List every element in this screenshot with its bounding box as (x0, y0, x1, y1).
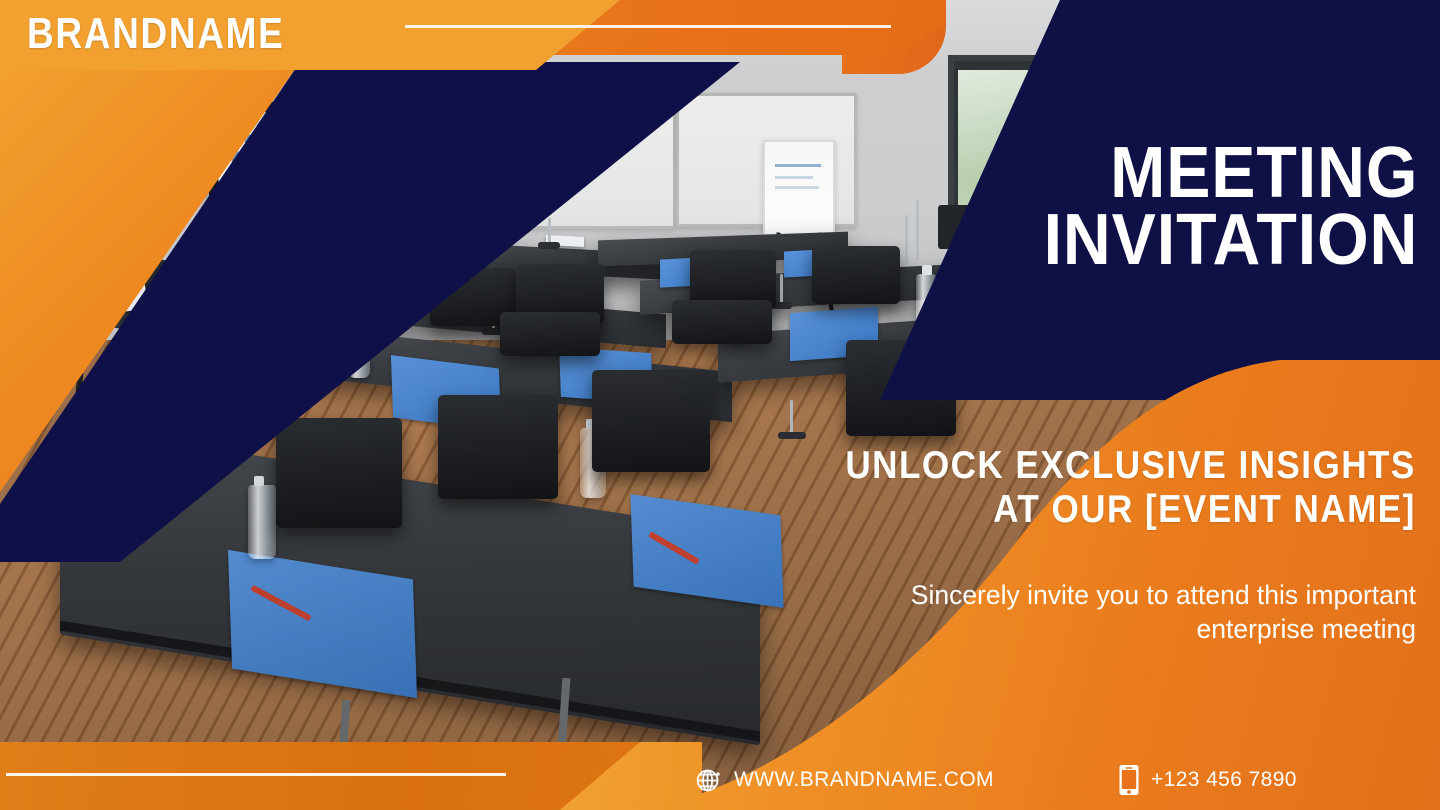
website-contact[interactable]: WWW.BRANDNAME.COM (694, 766, 994, 795)
website-text: WWW.BRANDNAME.COM (734, 768, 994, 792)
title-line-1: MEETING (1043, 140, 1418, 207)
header-divider-line (405, 25, 891, 28)
page-title: MEETING INVITATION (1011, 140, 1418, 274)
subtitle-line-1: Sincerely invite you to attend this impo… (911, 578, 1416, 612)
meeting-invitation-poster: BRANDNAME MEETING INVITATION UNLOCK EXCL… (0, 0, 1440, 810)
headline: UNLOCK EXCLUSIVE INSIGHTS AT OUR [EVENT … (782, 444, 1416, 531)
brand-name: BRANDNAME (27, 9, 284, 59)
title-line-2: INVITATION (1043, 207, 1418, 274)
headline-line-2: AT OUR [EVENT NAME] (846, 488, 1416, 532)
phone-contact[interactable]: +123 456 7890 (1118, 764, 1297, 796)
headline-line-1: UNLOCK EXCLUSIVE INSIGHTS (846, 444, 1416, 488)
footer-divider-line (6, 773, 506, 776)
phone-text: +123 456 7890 (1151, 768, 1297, 792)
mobile-phone-icon (1118, 764, 1140, 796)
contact-bar: WWW.BRANDNAME.COM +123 456 7890 (694, 764, 1297, 796)
globe-icon (694, 766, 723, 795)
subtitle-line-2: enterprise meeting (911, 612, 1416, 646)
subtitle: Sincerely invite you to attend this impo… (911, 578, 1416, 647)
